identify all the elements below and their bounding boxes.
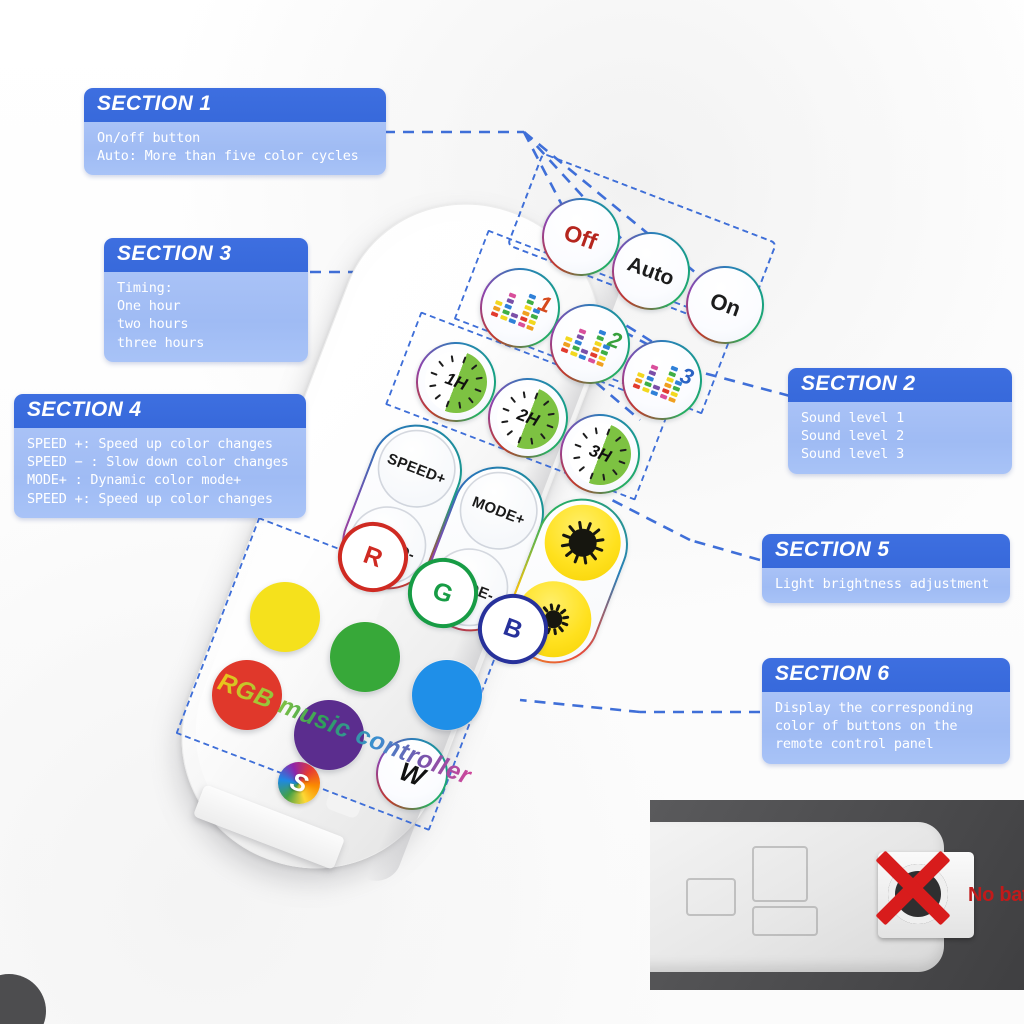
speed-up-label: SPEED+ xyxy=(385,450,448,488)
callout-section-3-title: SECTION 3 xyxy=(104,238,308,272)
auto-button-label: Auto xyxy=(625,253,677,289)
off-button-label: Off xyxy=(561,221,600,254)
on-button-label: On xyxy=(707,289,743,320)
callout-section-3: SECTION 3 Timing: One hour two hours thr… xyxy=(104,238,308,362)
no-battery-warning-text: No battery xyxy=(968,884,1024,907)
sound-level-3-label: 3 xyxy=(676,362,697,391)
emboss-mark-3 xyxy=(752,906,818,936)
equalizer-icon-3: 3 xyxy=(633,355,692,405)
callout-section-2-body: Sound level 1 Sound level 2 Sound level … xyxy=(788,402,1012,474)
callout-section-6-body: Display the corresponding color of butto… xyxy=(762,692,1010,764)
callout-section-5: SECTION 5 Light brightness adjustment xyxy=(762,534,1010,603)
callout-section-6-title: SECTION 6 xyxy=(762,658,1010,692)
diagram-canvas: Off Auto On 1 2 3 xyxy=(0,0,1024,1024)
equalizer-icon-1: 1 xyxy=(491,283,550,333)
callout-section-2: SECTION 2 Sound level 1 Sound level 2 So… xyxy=(788,368,1012,474)
timer-2h-label: 2H xyxy=(488,378,568,458)
red-channel-label: R xyxy=(360,542,386,572)
clock-icon-1h: 1H xyxy=(416,342,496,422)
callout-section-3-body: Timing: One hour two hours three hours xyxy=(104,272,308,362)
callout-section-5-title: SECTION 5 xyxy=(762,534,1010,568)
emboss-mark-2 xyxy=(752,846,808,902)
clock-icon-2h: 2H xyxy=(488,378,568,458)
no-battery-x-icon xyxy=(860,842,952,934)
mode-up-label: MODE+ xyxy=(470,493,528,529)
callout-section-4: SECTION 4 SPEED +: Speed up color change… xyxy=(14,394,306,518)
callout-section-2-title: SECTION 2 xyxy=(788,368,1012,402)
green-channel-label: G xyxy=(430,578,457,608)
callout-section-5-body: Light brightness adjustment xyxy=(762,568,1010,603)
blue-channel-label: B xyxy=(500,614,526,644)
callout-section-1-title: SECTION 1 xyxy=(84,88,386,122)
callout-section-4-body: SPEED +: Speed up color changes SPEED − … xyxy=(14,428,306,518)
sound-level-2-label: 2 xyxy=(604,326,625,355)
timer-3h-label: 3H xyxy=(560,414,640,494)
battery-inset-photo: No battery xyxy=(650,800,1024,990)
clock-icon-3h: 3H xyxy=(560,414,640,494)
callout-section-1-body: On/off button Auto: More than five color… xyxy=(84,122,386,175)
emboss-mark-1 xyxy=(686,878,736,916)
sound-level-1-label: 1 xyxy=(534,290,555,319)
timer-1h-label: 1H xyxy=(416,342,496,422)
callout-section-6: SECTION 6 Display the corresponding colo… xyxy=(762,658,1010,764)
callout-section-1: SECTION 1 On/off button Auto: More than … xyxy=(84,88,386,175)
callout-section-4-title: SECTION 4 xyxy=(14,394,306,428)
equalizer-icon-2: 2 xyxy=(561,319,620,369)
